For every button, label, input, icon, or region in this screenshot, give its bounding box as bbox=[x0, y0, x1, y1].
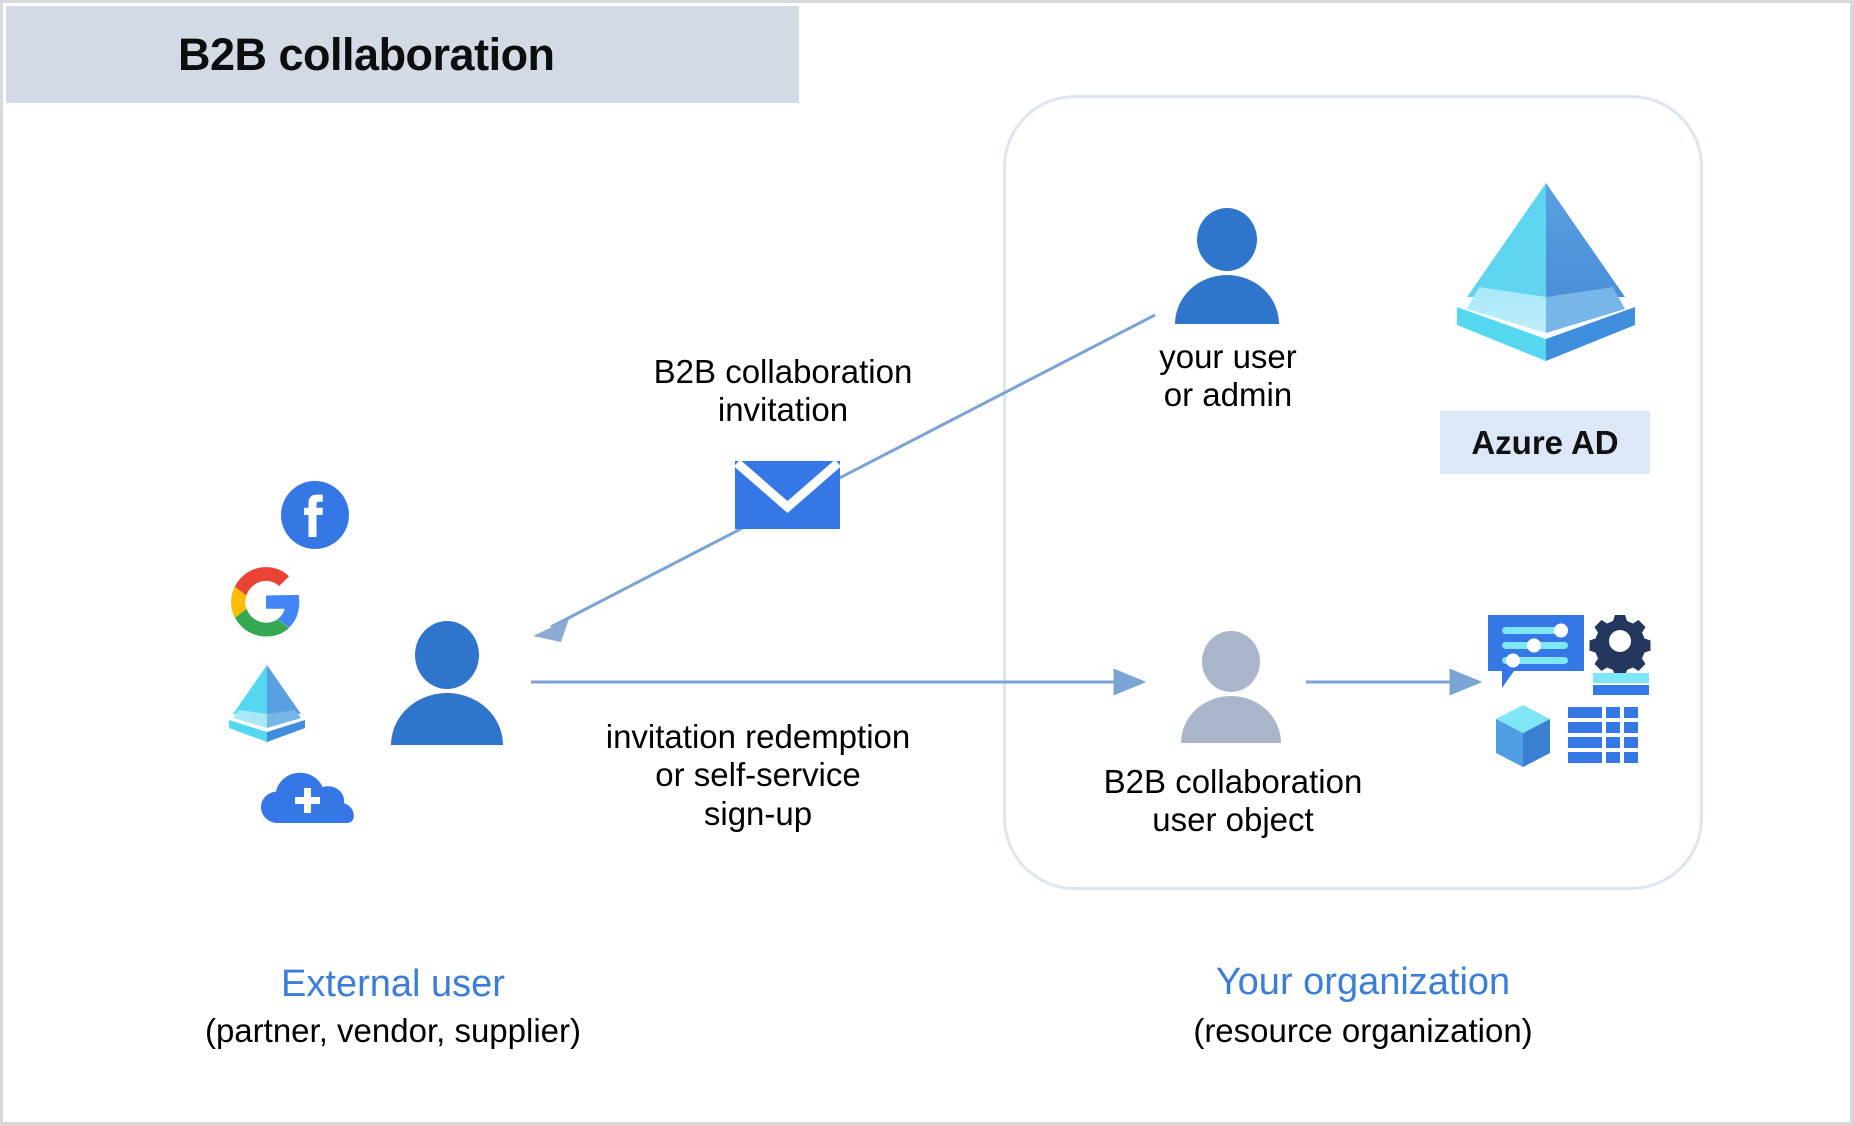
person-head bbox=[415, 621, 479, 689]
person-body bbox=[1175, 275, 1279, 324]
diagram-canvas: B2B collaboration bbox=[0, 0, 1853, 1125]
your-organization-subheading: (resource organization) bbox=[1113, 1013, 1613, 1050]
external-user-subheading: (partner, vendor, supplier) bbox=[158, 1013, 628, 1050]
facebook-icon bbox=[281, 481, 349, 549]
cloud-plus-icon bbox=[261, 773, 354, 823]
azure-ad-label: Azure AD bbox=[1440, 411, 1650, 474]
b2b-collaboration-user-object-person-icon bbox=[1181, 631, 1281, 739]
external-user-person-icon bbox=[391, 621, 503, 741]
b2b-user-object-label: B2B collaboration user object bbox=[1048, 763, 1418, 840]
gear-icon bbox=[1590, 615, 1651, 676]
person-head bbox=[1197, 208, 1257, 271]
person-head bbox=[1202, 631, 1260, 692]
invitation-flow-label: B2B collaboration invitation bbox=[603, 353, 963, 430]
external-user-heading: External user bbox=[158, 963, 628, 1006]
your-user-or-admin-person-icon bbox=[1175, 208, 1279, 320]
envelope-icon bbox=[735, 461, 840, 529]
title-banner: B2B collaboration bbox=[6, 6, 799, 103]
your-user-or-admin-label: your user or admin bbox=[1118, 338, 1338, 415]
person-body bbox=[391, 693, 503, 745]
azure-ad-small-icon bbox=[229, 665, 305, 742]
google-icon bbox=[231, 567, 299, 636]
page-title: B2B collaboration bbox=[178, 29, 555, 81]
redemption-flow-label: invitation redemption or self-service si… bbox=[548, 718, 968, 833]
your-organization-heading: Your organization bbox=[1113, 961, 1613, 1004]
person-body bbox=[1181, 696, 1281, 743]
